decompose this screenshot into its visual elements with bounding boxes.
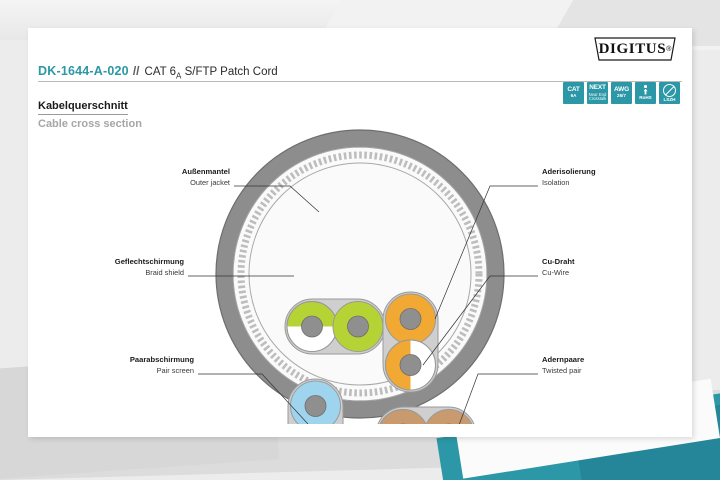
awg-badge: AWG 26/7	[611, 82, 632, 104]
header-row: DK-1644-A-020//CAT 6A S/FTP Patch Cord	[38, 62, 682, 80]
label-twisted-pair: Adernpaare Twisted pair	[542, 355, 584, 375]
content-card: DK-1644-A-020//CAT 6A S/FTP Patch Cord K…	[28, 28, 692, 437]
rohs-badge-label: RoHS	[639, 96, 652, 101]
label-cu-wire: Cu-Draht Cu-Wire	[542, 257, 575, 277]
person-icon	[644, 85, 648, 95]
product-sku: DK-1644-A-020	[38, 64, 129, 78]
label-pair-screen-de: Paarabschirmung	[130, 355, 195, 364]
pair-orange-wire-solid-core	[400, 309, 421, 330]
label-pair-screen: Paarabschirmung Pair screen	[130, 355, 195, 375]
cable-cross-section-diagram: Außenmantel Outer jacket Geflechtschirmu…	[38, 124, 682, 424]
next-badge-line1: NEXT	[589, 85, 606, 92]
label-isolation-de: Aderisolierung	[542, 167, 596, 176]
pair-green-wire-solid-core	[348, 316, 369, 337]
awg-badge-line3: 26/7	[617, 94, 626, 99]
rohs-badge: RoHS	[635, 82, 656, 104]
leader-twisted-pair	[449, 374, 538, 424]
cat6a-badge: CAT 6A	[563, 82, 584, 104]
pair-orange-wire-solid	[386, 294, 436, 344]
label-cu-wire-de: Cu-Draht	[542, 257, 575, 266]
lszh-badge: LSZH	[659, 82, 680, 104]
pair-blue-wire-solid-core	[305, 396, 326, 417]
digitus-logo: DIGITUS®	[592, 36, 678, 67]
label-braid-shield: Geflechtschirmung Braid shield	[115, 257, 185, 277]
header-separator: //	[133, 64, 140, 78]
pair-green-wire-solid	[333, 302, 383, 352]
pair-green-wire-striped	[287, 302, 337, 352]
label-cu-wire-en: Cu-Wire	[542, 268, 569, 277]
label-isolation: Aderisolierung Isolation	[542, 167, 596, 187]
next-badge-line2: Near End Crosstalk	[587, 93, 608, 101]
label-isolation-en: Isolation	[542, 178, 570, 187]
pair-orange	[383, 292, 438, 392]
pair-orange-wire-striped-core	[400, 355, 421, 376]
label-twisted-pair-de: Adernpaare	[542, 355, 584, 364]
cat6a-badge-line2: 6A	[571, 94, 577, 99]
logo-registered-mark: ®	[666, 46, 671, 53]
certification-badges: CAT 6A NEXT Near End Crosstalk AWG 26/7 …	[563, 82, 680, 104]
no-halogen-icon	[663, 84, 676, 97]
product-description: CAT 6A S/FTP Patch Cord	[145, 66, 278, 78]
description-post: S/FTP Patch Cord	[181, 66, 277, 78]
pair-orange-wire-striped	[386, 340, 436, 390]
label-outer-jacket: Außenmantel Outer jacket	[182, 167, 230, 187]
section-title-de: Kabelquerschnitt	[38, 100, 128, 115]
pair-brown	[376, 407, 476, 424]
next-badge: NEXT Near End Crosstalk	[587, 82, 608, 104]
description-pre: CAT 6	[145, 66, 177, 78]
label-braid-shield-de: Geflechtschirmung	[115, 257, 185, 266]
logo-text: DIGITUS	[599, 41, 667, 58]
label-braid-shield-en: Braid shield	[145, 268, 184, 277]
pair-green-wire-striped-core	[302, 316, 323, 337]
label-outer-jacket-de: Außenmantel	[182, 167, 230, 176]
pair-green	[285, 299, 385, 354]
label-twisted-pair-en: Twisted pair	[542, 366, 582, 375]
label-outer-jacket-en: Outer jacket	[190, 178, 230, 187]
lszh-badge-label: LSZH	[664, 98, 676, 103]
datasheet-page: DK-1644-A-020//CAT 6A S/FTP Patch Cord K…	[0, 0, 720, 480]
cable-diagram-svg: Außenmantel Outer jacket Geflechtschirmu…	[38, 124, 682, 424]
label-pair-screen-en: Pair screen	[157, 366, 194, 375]
